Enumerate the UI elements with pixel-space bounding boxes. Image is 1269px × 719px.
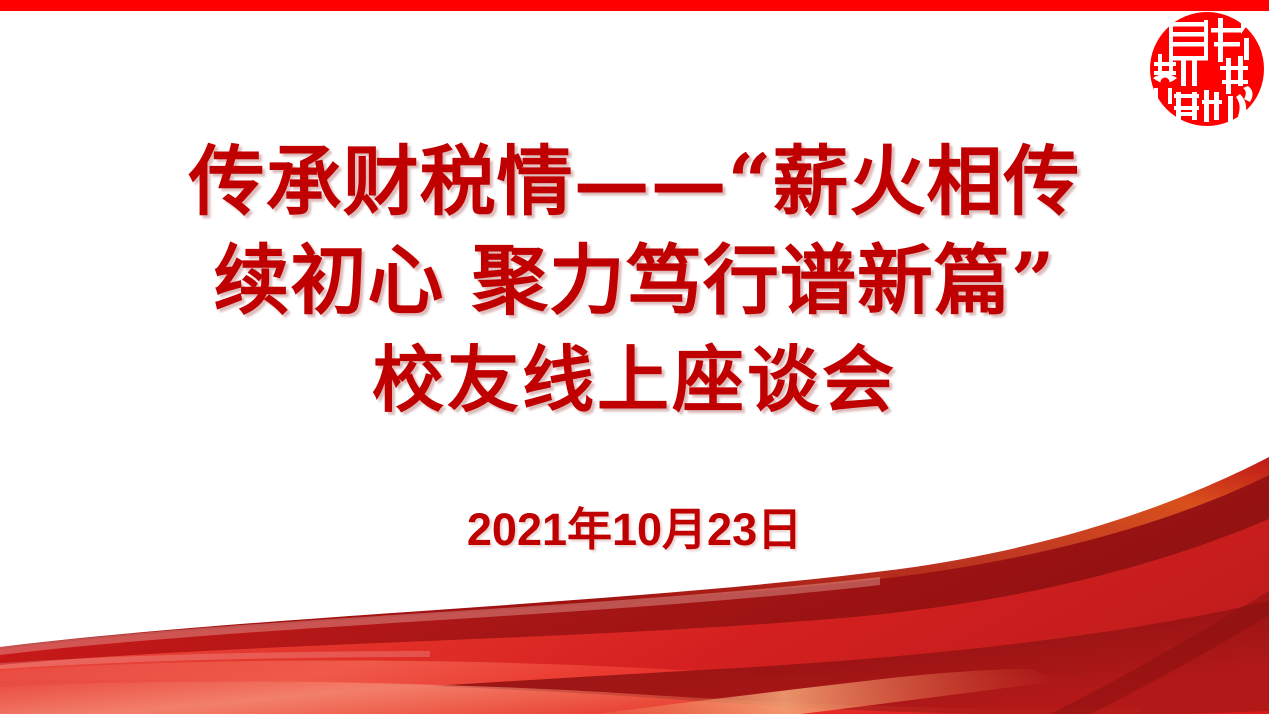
title-line-2: 续初心 聚力笃行谱新篇”	[0, 231, 1269, 330]
presentation-slide: 传承财税情——“薪火相传 续初心 聚力笃行谱新篇” 校友线上座谈会 2021年1…	[0, 0, 1269, 719]
bottom-ribbon-decoration	[0, 419, 1269, 719]
event-date: 2021年10月23日	[0, 503, 1269, 557]
page-title: 传承财税情——“薪火相传 续初心 聚力笃行谱新篇” 校友线上座谈会	[0, 132, 1269, 429]
top-red-bar	[0, 0, 1269, 11]
title-line-1: 传承财税情——“薪火相传	[0, 132, 1269, 231]
title-line-3: 校友线上座谈会	[0, 330, 1269, 429]
bottom-white-strip	[0, 714, 1269, 719]
chinese-seal-icon	[1148, 8, 1266, 128]
